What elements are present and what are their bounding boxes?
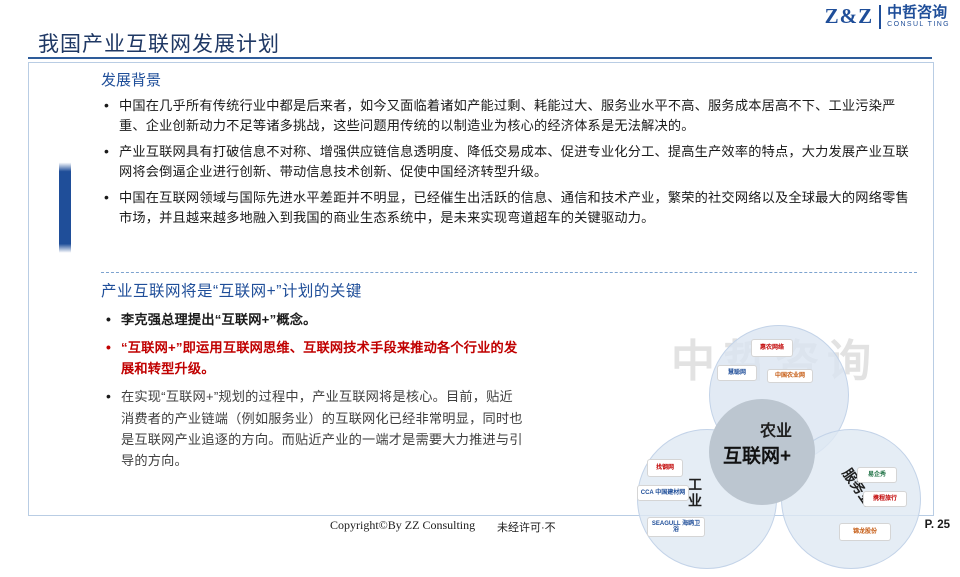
content-frame: 发展背景 中国在几乎所有传统行业中都是后来者，如今又面临着诸如产能过剩、耗能过大… [28, 62, 934, 516]
list-item: “互联网+”即运用互联网思维、互联网技术手段来推动各个行业的发展和转型升级。 [103, 337, 523, 379]
brand-chip: 携程旅行 [863, 491, 907, 507]
list-item: 在实现“互联网+”规划的过程中，产业互联网将是核心。目前，贴近消费者的产业链端（… [103, 386, 523, 471]
venn-diagram: 农业 工业 服务业 互联网+ 惠农网络 慧聪网 中国农业网 找钢网 CCA 中国… [599, 325, 951, 577]
logo-mark: Z&Z [825, 4, 874, 29]
section-background-heading: 发展背景 [101, 69, 919, 90]
page-title: 我国产业互联网发展计划 [38, 28, 280, 58]
brand-chip: SEAGULL 海鸥卫浴 [647, 517, 705, 537]
list-item: 李克强总理提出“互联网+”概念。 [103, 309, 523, 330]
slide: Z&Z 中哲咨询 CONSUL TING 我国产业互联网发展计划 发展背景 中国… [0, 0, 960, 540]
background-bullet-list: 中国在几乎所有传统行业中都是后来者，如今又面临着诸如产能过剩、耗能过大、服务业水… [101, 96, 919, 229]
logo-company-cn: 中哲咨询 [887, 5, 950, 21]
accent-bar [59, 63, 71, 515]
brand-chip: 锦龙股份 [839, 523, 891, 541]
brand-chip: 易企秀 [857, 467, 897, 483]
brand-chip: 惠农网络 [751, 339, 793, 357]
list-item: 产业互联网具有打破信息不对称、增强供应链信息透明度、降低交易成本、促进专业化分工… [101, 142, 919, 183]
brand-chip: CCA 中国建材网 [637, 485, 689, 501]
title-rule [28, 57, 932, 59]
footer-note: 未经许可·不 [497, 519, 556, 535]
brand-chip: 慧聪网 [717, 365, 757, 381]
logo-divider [879, 5, 881, 29]
list-item: 中国在互联网领域与国际先进水平差距并不明显，已经催生出活跃的信息、通信和技术产业… [101, 188, 919, 229]
list-item: 中国在几乎所有传统行业中都是后来者，如今又面临着诸如产能过剩、耗能过大、服务业水… [101, 96, 919, 137]
logo-company-en: CONSUL TING [887, 21, 950, 28]
content-inner: 发展背景 中国在几乎所有传统行业中都是后来者，如今又面临着诸如产能过剩、耗能过大… [59, 63, 933, 515]
section-background: 发展背景 中国在几乎所有传统行业中都是后来者，如今又面临着诸如产能过剩、耗能过大… [101, 69, 919, 234]
copyright-text: Copyright©By ZZ Consulting [330, 518, 475, 533]
key-bullet-list: 李克强总理提出“互联网+”概念。 “互联网+”即运用互联网思维、互联网技术手段来… [103, 309, 523, 478]
venn-label-center: 互联网+ [723, 441, 791, 468]
page-number: P. 25 [925, 519, 950, 531]
company-logo: Z&Z 中哲咨询 CONSUL TING [825, 4, 950, 29]
brand-chip: 找钢网 [647, 459, 683, 477]
venn-label-agriculture: 农业 [760, 417, 792, 441]
brand-chip: 中国农业网 [767, 369, 813, 383]
section-divider [101, 272, 917, 273]
section-key-heading: 产业互联网将是“互联网+”计划的关键 [101, 279, 362, 301]
